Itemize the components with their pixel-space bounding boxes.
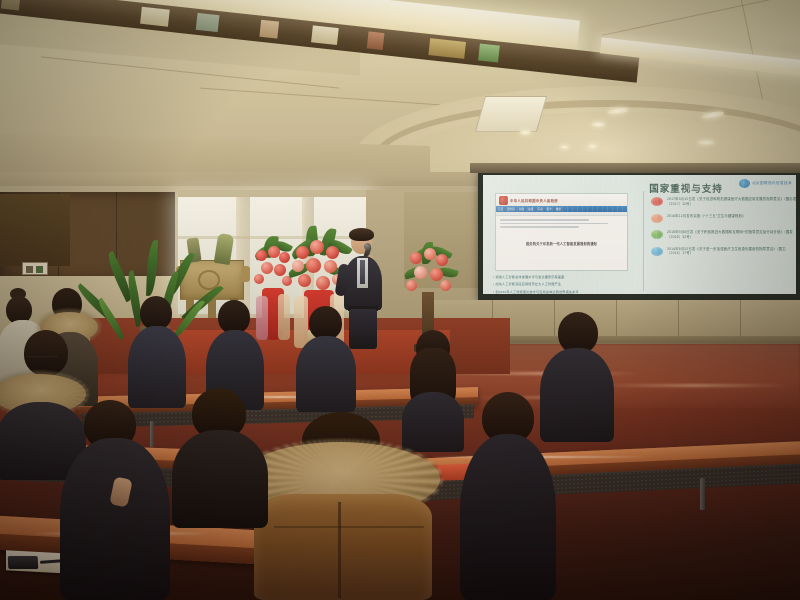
gov-nav-item[interactable]: 互动	[537, 207, 542, 211]
slide-divider	[643, 191, 644, 291]
orange-badge-icon	[651, 214, 663, 223]
gov-site-name: 中华人民共和国中央人民政府	[510, 198, 558, 203]
head	[309, 306, 342, 340]
audience-member	[296, 306, 356, 410]
puffer-jacket	[254, 494, 432, 600]
bullet-text: 2015年9月8日发《关于积极推进大数据和互联网+的指导意见及行动计划》（国发〔…	[667, 230, 796, 239]
list-item: 2017年3月10日发《关于促进和规范健康医疗大数据应用发展的指导意见》（国办发…	[651, 197, 796, 206]
downlight	[588, 144, 597, 149]
list-item: 2016年12月发布实施《“十三五”卫生与健康规划》	[651, 214, 796, 223]
gov-doc-title: 国务院关于印发新一代人工智能发展规划的通知	[526, 242, 597, 246]
head	[218, 300, 250, 334]
gov-site-header: 中华人民共和国中央人民政府	[496, 194, 627, 206]
slide-left-notes: • 我国人工智能总体发展水平与发达国家仍有差距 • 加快人工智能深度应用培育壮大…	[493, 274, 643, 294]
gov-nav-item[interactable]: 新闻	[519, 207, 524, 211]
downlight	[592, 122, 605, 127]
slide-logo: 北京国联视讯信息技术	[739, 179, 792, 188]
gov-body: 国务院关于印发新一代人工智能发展规划的通知	[496, 216, 627, 253]
bullet-text: 2017年3月10日发《关于促进和规范健康医疗大数据应用发展的指导意见》（国办发…	[667, 197, 796, 206]
slide-bullet-list: 2017年3月10日发《关于促进和规范健康医疗大数据应用发展的指导意见》（国办发…	[651, 197, 796, 264]
slide-note: • 我国人工智能总体发展水平与发达国家仍有差距	[493, 274, 643, 279]
jacket-seam	[338, 502, 341, 598]
window-frame	[178, 190, 368, 197]
company-logo-icon	[739, 179, 750, 188]
conference-room-photo: 国家重视与支持 北京国联视讯信息技术 中华人民共和国中央人民政府 首页 国务院 …	[0, 0, 800, 600]
audience-member	[60, 400, 170, 600]
list-item: 2014年5月22日发《关于进一步加强医疗卫生信息化建设的指导意见》（国卫〔20…	[651, 247, 796, 256]
downlight	[698, 140, 714, 145]
ceiling	[0, 0, 800, 182]
jacket-seam	[274, 526, 424, 528]
mobile-phone[interactable]	[8, 556, 39, 569]
national-emblem-icon	[499, 196, 508, 205]
torso	[172, 430, 268, 528]
head	[140, 296, 172, 330]
audience-member-foreground	[172, 388, 268, 528]
list-item: 2015年9月8日发《关于积极推进大数据和互联网+的指导意见及行动计划》（国发〔…	[651, 230, 796, 239]
audience-member	[460, 392, 556, 600]
gov-nav-item[interactable]: 服务	[547, 207, 552, 211]
slide-note: • 到2030年人工智能理论技术与应用总体达到世界领先水平	[493, 289, 643, 294]
audience-member-foreground	[240, 418, 450, 600]
ceiling-vent	[475, 96, 547, 132]
torso	[296, 336, 356, 412]
downlight	[520, 130, 531, 135]
gov-doc-title-wrap: 国务院关于印发新一代人工智能发展规划的通知	[500, 232, 623, 250]
presenter-tie	[360, 260, 365, 284]
gov-nav-item[interactable]: 首页	[498, 207, 503, 211]
downlight	[560, 145, 569, 149]
glasses-icon	[28, 356, 58, 357]
gov-website-screenshot: 中华人民共和国中央人民政府 首页 国务院 新闻 政策 互动 服务 数据	[495, 193, 628, 271]
bullet-text: 2014年5月22日发《关于进一步加强医疗卫生信息化建设的指导意见》（国卫〔20…	[667, 247, 796, 256]
blue-badge-icon	[651, 247, 663, 256]
torso	[460, 434, 556, 600]
head	[24, 330, 68, 376]
table-leg	[700, 478, 705, 510]
slide-note: • 加快人工智能深度应用培育壮大人工智能产业	[493, 281, 643, 286]
microphone-head-icon	[364, 243, 371, 250]
gov-nav-item[interactable]: 国务院	[507, 207, 515, 211]
torso	[60, 438, 170, 600]
red-badge-icon	[651, 197, 663, 206]
green-badge-icon	[651, 230, 663, 239]
company-logo-text: 北京国联视讯信息技术	[752, 181, 792, 186]
light-switch[interactable]	[22, 262, 48, 275]
bullet-text: 2016年12月发布实施《“十三五”卫生与健康规划》	[667, 214, 746, 219]
projection-screen[interactable]: 国家重视与支持 北京国联视讯信息技术 中华人民共和国中央人民政府 首页 国务院 …	[478, 170, 800, 300]
wood-wall-panel-secondary	[0, 194, 70, 266]
slide: 国家重视与支持 北京国联视讯信息技术 中华人民共和国中央人民政府 首页 国务院 …	[483, 175, 796, 294]
gov-nav-item[interactable]: 数据	[556, 207, 561, 211]
presenter-hair	[349, 228, 374, 241]
gov-nav-item[interactable]: 政策	[528, 207, 533, 211]
